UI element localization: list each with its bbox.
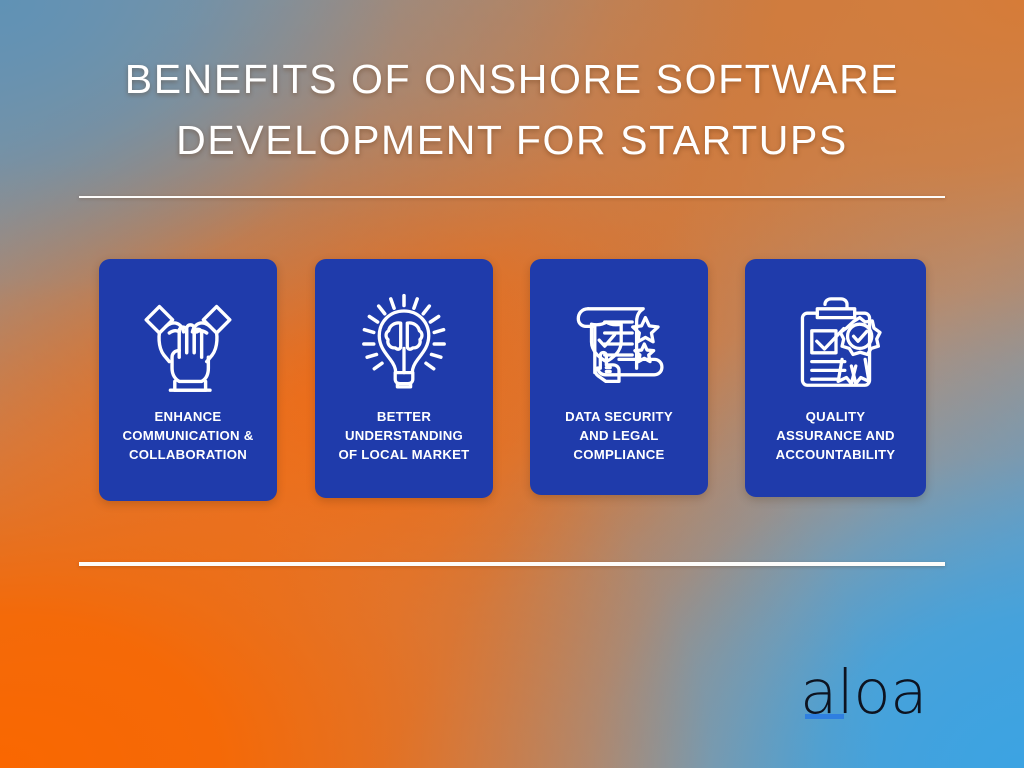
benefit-card-label: QUALITY ASSURANCE AND ACCOUNTABILITY — [768, 407, 904, 464]
aloa-logo[interactable]: aloa — [800, 662, 940, 724]
page-title-line-2: DEVELOPMENT FOR STARTUPS — [0, 110, 1024, 171]
lightbulb-brain-idea-icon — [349, 289, 459, 399]
benefit-card-label-line: ASSURANCE AND — [776, 426, 896, 445]
page-title: BENEFITS OF ONSHORE SOFTWARE DEVELOPMENT… — [0, 49, 1024, 171]
benefit-card-label-line: COMMUNICATION & — [123, 426, 254, 445]
benefit-cards-row: ENHANCE COMMUNICATION & COLLABORATION — [99, 259, 926, 501]
benefit-card-label-line: OF LOCAL MARKET — [339, 445, 470, 464]
benefit-card-label-line: ACCOUNTABILITY — [776, 445, 896, 464]
benefit-card-label: BETTER UNDERSTANDING OF LOCAL MARKET — [331, 407, 478, 464]
benefit-card-label: DATA SECURITY AND LEGAL COMPLIANCE — [557, 407, 681, 464]
benefit-card-label-line: COLLABORATION — [123, 445, 254, 464]
benefit-card-quality-assurance[interactable]: QUALITY ASSURANCE AND ACCOUNTABILITY — [745, 259, 926, 497]
slide-content: BENEFITS OF ONSHORE SOFTWARE DEVELOPMENT… — [0, 0, 1024, 768]
divider-top — [79, 196, 945, 198]
three-hands-teamwork-icon — [133, 289, 243, 399]
logo-accent-underline — [805, 714, 844, 719]
benefit-card-label-line: BETTER — [339, 407, 470, 426]
benefit-card-label-line: DATA SECURITY — [565, 407, 673, 426]
divider-bottom — [79, 562, 945, 566]
benefit-card-label-line: ENHANCE — [123, 407, 254, 426]
clipboard-checkbox-award-ribbon-icon — [781, 289, 891, 399]
benefit-card-label-line: AND LEGAL — [565, 426, 673, 445]
benefit-card-label: ENHANCE COMMUNICATION & COLLABORATION — [115, 407, 262, 464]
benefit-card-label-line: QUALITY — [776, 407, 896, 426]
page-title-line-1: BENEFITS OF ONSHORE SOFTWARE — [0, 49, 1024, 110]
scroll-shield-check-stars-icon — [564, 289, 674, 399]
benefit-card-data-security[interactable]: DATA SECURITY AND LEGAL COMPLIANCE — [530, 259, 708, 495]
benefit-card-label-line: UNDERSTANDING — [339, 426, 470, 445]
benefit-card-enhance-communication[interactable]: ENHANCE COMMUNICATION & COLLABORATION — [99, 259, 277, 501]
benefit-card-better-understanding[interactable]: BETTER UNDERSTANDING OF LOCAL MARKET — [315, 259, 493, 498]
benefit-card-label-line: COMPLIANCE — [565, 445, 673, 464]
